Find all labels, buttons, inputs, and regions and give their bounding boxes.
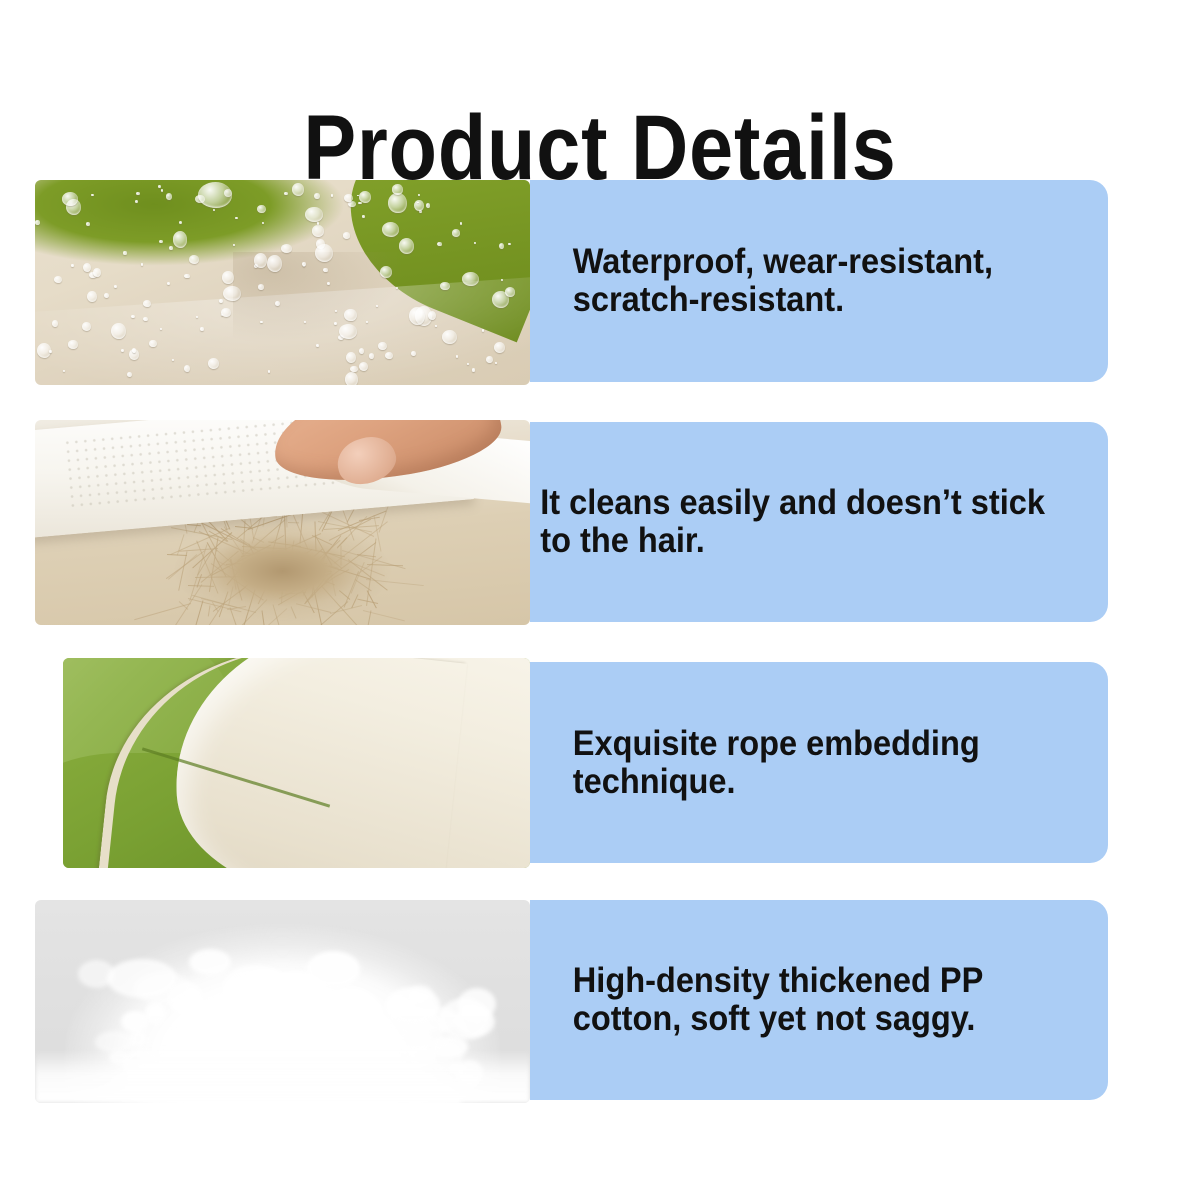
water-droplet (331, 194, 334, 196)
water-droplet (35, 220, 40, 224)
water-droplet (173, 231, 188, 248)
water-droplet (281, 244, 292, 253)
water-droplet (111, 323, 126, 339)
cotton-fill-base (35, 1050, 530, 1103)
water-droplet (392, 184, 403, 194)
water-droplet (54, 276, 63, 283)
feature-text: Exquisite rope embedding technique. (530, 725, 980, 801)
feature-row: High-density thickened PP cotton, soft y… (0, 900, 1200, 1105)
feature-text-panel: Exquisite rope embedding technique. (530, 662, 1108, 863)
water-droplet (91, 194, 93, 196)
water-droplet (149, 340, 156, 347)
water-droplet (317, 222, 320, 225)
cotton-tuft (107, 959, 177, 998)
water-droplet (93, 268, 101, 277)
water-droplet (388, 193, 406, 214)
water-droplet (486, 356, 493, 363)
water-droplet (233, 244, 235, 246)
water-droplet (442, 330, 457, 344)
water-droplet (213, 209, 215, 211)
water-droplet (456, 355, 458, 357)
water-droplet (292, 183, 304, 196)
water-droplet (71, 264, 74, 267)
water-droplet (345, 372, 358, 385)
water-droplet (399, 238, 414, 254)
feature-row: Exquisite rope embedding technique. (0, 658, 1200, 868)
water-droplet (68, 340, 79, 349)
water-droplet (159, 240, 163, 243)
water-droplet (158, 185, 161, 188)
water-droplet (179, 221, 183, 224)
water-droplet (132, 348, 136, 353)
water-droplet (376, 305, 378, 307)
cotton-tuft (317, 987, 385, 1055)
water-droplet (378, 342, 387, 351)
feature-text-panel: Waterproof, wear-resistant, scratch-resi… (530, 180, 1108, 382)
cotton-tuft (385, 987, 440, 1024)
water-droplet (136, 192, 140, 195)
water-droplet (359, 348, 365, 354)
cotton-tuft (189, 949, 231, 975)
water-droplet (83, 263, 91, 272)
water-droplet (302, 262, 306, 266)
water-droplet (184, 274, 190, 279)
water-droplet (462, 272, 479, 286)
water-droplet (166, 193, 172, 200)
water-droplet (499, 243, 504, 249)
water-droplet (62, 192, 78, 206)
water-droplet (114, 285, 117, 288)
water-droplet (482, 329, 484, 332)
feature-text-panel: High-density thickened PP cotton, soft y… (530, 900, 1108, 1100)
water-droplet (221, 308, 231, 317)
product-details-page: Product Details Waterproof, wear-resista… (0, 0, 1200, 1200)
water-droplet (312, 225, 325, 237)
pp-cotton-photo (35, 900, 530, 1103)
cotton-tuft (121, 1011, 148, 1032)
water-droplet-large (198, 182, 232, 208)
water-droplet (494, 342, 505, 353)
water-droplet (196, 316, 198, 318)
water-droplet (411, 351, 416, 357)
water-droplet (335, 310, 337, 312)
water-droplet (52, 320, 58, 327)
water-droplet (260, 321, 262, 323)
water-droplet (141, 263, 143, 265)
water-droplet (505, 287, 515, 296)
water-droplet (362, 215, 365, 217)
feature-text-panel: It cleans easily and doesn’t stick to th… (530, 422, 1108, 622)
water-droplet (127, 372, 132, 377)
cotton-tuft (439, 998, 490, 1040)
water-droplet (257, 205, 266, 214)
feature-row: It cleans easily and doesn’t stick to th… (0, 420, 1200, 625)
water-droplet (343, 232, 350, 238)
pet-hair-clump (174, 510, 392, 621)
water-droplet (167, 282, 170, 285)
water-droplet (316, 344, 319, 347)
water-droplet (437, 242, 442, 246)
feature-row: Waterproof, wear-resistant, scratch-resi… (0, 180, 1200, 385)
feature-text: Waterproof, wear-resistant, scratch-resi… (530, 243, 993, 319)
hair-wipe-photo (35, 420, 530, 625)
water-droplet (169, 246, 173, 250)
water-droplet (262, 222, 264, 224)
water-droplet (223, 286, 241, 301)
water-droplet (86, 222, 90, 226)
water-droplet (467, 363, 469, 365)
water-droplet (314, 193, 319, 199)
water-droplet (323, 268, 328, 273)
water-droplet (334, 322, 337, 325)
waterproof-fabric-photo (35, 180, 530, 385)
water-droplet (222, 271, 234, 284)
cotton-tuft (130, 1030, 147, 1047)
water-droplet (254, 253, 267, 268)
water-droplet (268, 370, 270, 372)
water-droplet (235, 217, 237, 219)
water-droplet (123, 251, 127, 254)
water-droplet (161, 189, 164, 192)
water-droplet (385, 352, 393, 359)
water-droplet (184, 365, 190, 372)
water-droplet (440, 282, 450, 291)
cotton-tuft (145, 1002, 166, 1024)
water-droplet (344, 194, 353, 202)
feature-text: It cleans easily and doesn’t stick to th… (530, 484, 1045, 560)
water-droplet (344, 309, 357, 322)
water-droplet (189, 255, 199, 264)
water-droplet (275, 301, 280, 306)
water-droplet (452, 229, 461, 236)
water-droplet (258, 284, 264, 290)
water-droplet (135, 200, 138, 203)
feature-text: High-density thickened PP cotton, soft y… (530, 962, 983, 1038)
water-droplet (284, 192, 287, 195)
water-droplet (82, 322, 91, 331)
water-droplet (87, 291, 97, 302)
rope-piping-photo (63, 658, 530, 868)
water-droplet (305, 207, 323, 222)
water-droplet (426, 203, 430, 208)
water-droplet (339, 324, 357, 339)
water-droplet (143, 300, 151, 307)
water-droplet (508, 243, 511, 245)
water-droplet (104, 293, 109, 298)
water-droplet (49, 350, 51, 352)
water-droplet (121, 349, 124, 352)
water-droplet (501, 279, 503, 281)
